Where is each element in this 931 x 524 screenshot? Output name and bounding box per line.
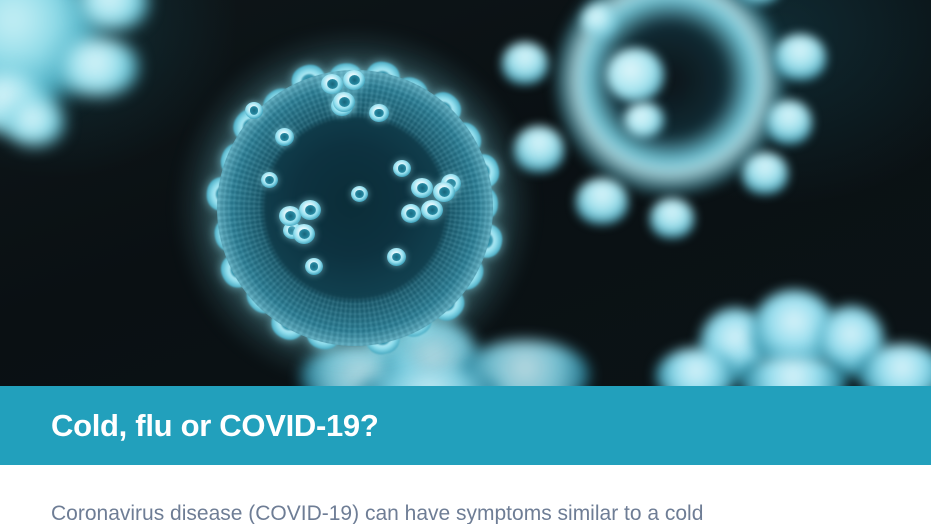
coronavirus-particle: [155, 8, 555, 386]
content-area: Coronavirus disease (COVID-19) can have …: [0, 465, 931, 524]
intro-paragraph: Coronavirus disease (COVID-19) can have …: [51, 499, 703, 524]
page-title: Cold, flu or COVID-19?: [51, 408, 379, 444]
title-banner: Cold, flu or COVID-19?: [0, 386, 931, 465]
hero-image: [0, 0, 931, 386]
poster-page: Cold, flu or COVID-19? Coronavirus disea…: [0, 0, 931, 524]
blurred-particle-bottom-right: [690, 280, 931, 386]
blurred-particle-upper-right: [520, 0, 850, 260]
